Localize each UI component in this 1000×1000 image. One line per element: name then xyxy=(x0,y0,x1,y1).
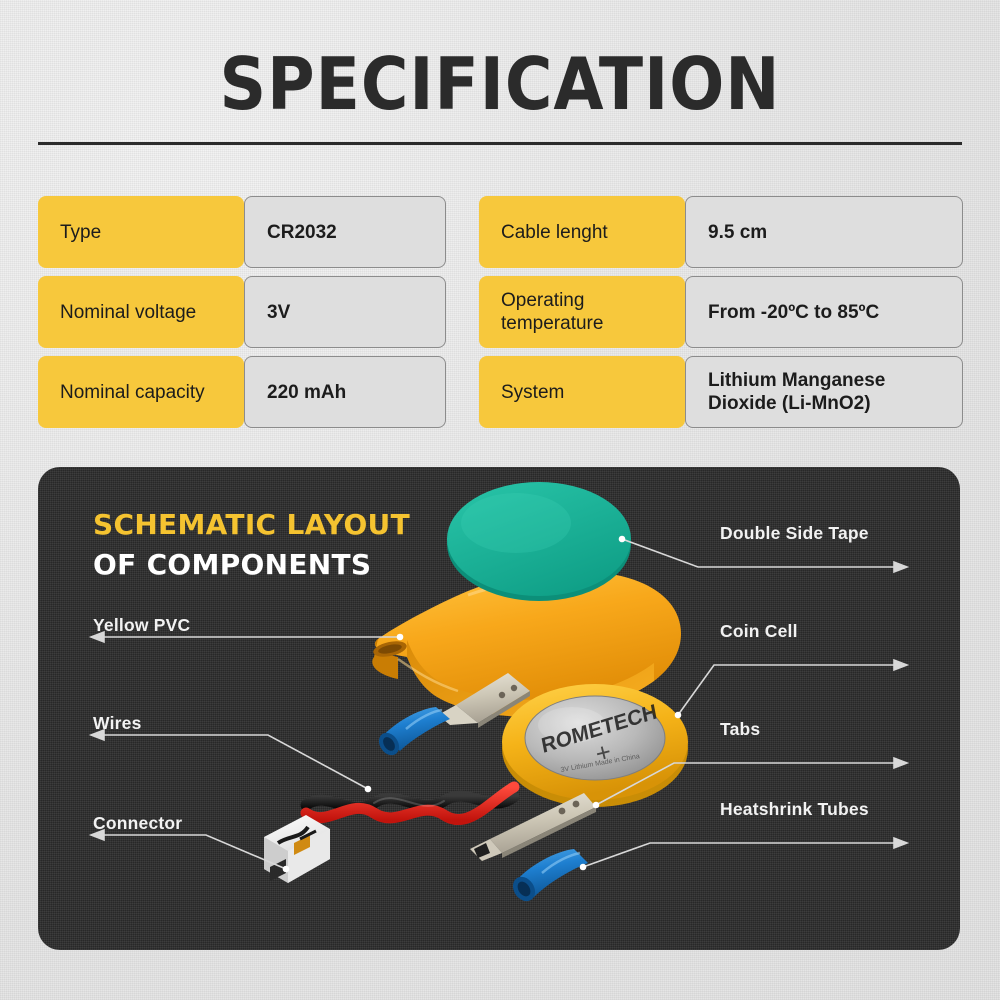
spec-value: CR2032 xyxy=(244,196,446,268)
spec-value: From -20ºC to 85ºC xyxy=(685,276,963,348)
leader-wires xyxy=(98,735,368,789)
spec-column-left: Type CR2032 Nominal voltage 3V Nominal c… xyxy=(38,196,483,436)
spec-row: Cable lenght 9.5 cm xyxy=(479,196,924,268)
leader-connector xyxy=(98,835,286,869)
spec-label: System xyxy=(479,356,685,428)
callout-label-tabs: Tabs xyxy=(720,719,760,740)
spec-row: Operating temperature From -20ºC to 85ºC xyxy=(479,276,924,348)
spec-label: Cable lenght xyxy=(479,196,685,268)
schematic-layout-panel: SCHEMATIC LAYOUT OF COMPONENTS xyxy=(38,467,960,950)
leader-coin-cell xyxy=(678,665,900,715)
callout-label-coin-cell: Coin Cell xyxy=(720,621,798,642)
spec-label: Nominal capacity xyxy=(38,356,244,428)
spec-label: Type xyxy=(38,196,244,268)
spec-value: 3V xyxy=(244,276,446,348)
page-title: SPECIFICATION xyxy=(0,48,1000,120)
spec-row: Type CR2032 xyxy=(38,196,483,268)
spec-value: Lithium Manganese Dioxide (Li-MnO2) xyxy=(685,356,963,428)
leader-heatshrink-tubes xyxy=(583,843,900,867)
callout-label-yellow-pvc: Yellow PVC xyxy=(93,615,190,636)
callout-label-heatshrink-tubes: Heatshrink Tubes xyxy=(720,799,869,820)
spec-row: System Lithium Manganese Dioxide (Li-MnO… xyxy=(479,356,924,428)
callout-label-connector: Connector xyxy=(93,813,182,834)
leader-arrow-right xyxy=(894,562,907,572)
spec-value: 220 mAh xyxy=(244,356,446,428)
spec-column-right: Cable lenght 9.5 cm Operating temperatur… xyxy=(479,196,924,436)
spec-row: Nominal voltage 3V xyxy=(38,276,483,348)
title-divider xyxy=(38,142,962,145)
callout-label-double-side-tape: Double Side Tape xyxy=(720,523,869,544)
callout-label-wires: Wires xyxy=(93,713,142,734)
spec-row: Nominal capacity 220 mAh xyxy=(38,356,483,428)
spec-label: Nominal voltage xyxy=(38,276,244,348)
spec-label: Operating temperature xyxy=(479,276,685,348)
spec-value: 9.5 cm xyxy=(685,196,963,268)
